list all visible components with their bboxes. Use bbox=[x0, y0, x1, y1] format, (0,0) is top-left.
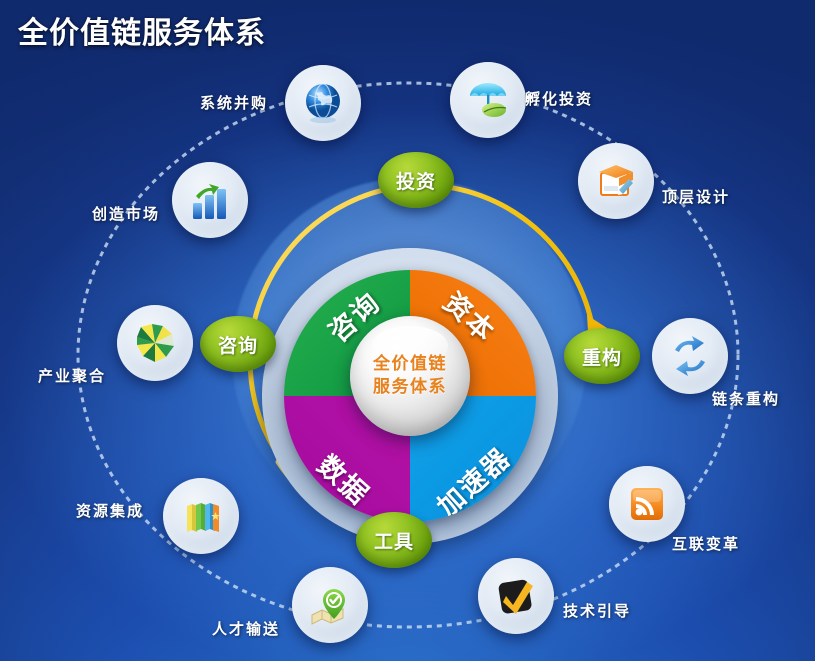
center-title-line2: 服务体系 bbox=[373, 376, 447, 399]
center-title-line1: 全价值链 bbox=[373, 353, 447, 376]
bubble-market-creation[interactable] bbox=[172, 162, 248, 238]
node-label-internet-reform: 互联变革 bbox=[672, 533, 740, 554]
page-title: 全价值链服务体系 bbox=[18, 8, 266, 52]
bubble-chain-restructure[interactable] bbox=[652, 318, 728, 394]
badge-tools[interactable]: 工具 bbox=[356, 512, 432, 568]
notebook-pen-icon bbox=[592, 157, 640, 205]
node-label-industry-cluster: 产业聚合 bbox=[38, 365, 106, 386]
badge-label-restructure: 重构 bbox=[582, 343, 622, 370]
rss-icon bbox=[623, 480, 671, 528]
node-label-market-creation: 创造市场 bbox=[92, 203, 160, 224]
badge-label-investment: 投资 bbox=[396, 167, 436, 194]
badge-restructure[interactable]: 重构 bbox=[564, 328, 640, 384]
globe-icon bbox=[299, 79, 347, 127]
node-label-talent-delivery: 人才输送 bbox=[212, 618, 280, 639]
badge-consulting[interactable]: 咨询 bbox=[200, 316, 276, 372]
badge-label-consulting: 咨询 bbox=[218, 331, 258, 358]
umbrella-leaf-icon bbox=[464, 76, 512, 124]
node-label-tech-guidance: 技术引导 bbox=[563, 600, 631, 621]
node-label-chain-restructure: 链条重构 bbox=[712, 388, 780, 409]
checkmark-icon bbox=[492, 572, 540, 620]
bubble-system-merger[interactable] bbox=[285, 65, 361, 141]
books-icon bbox=[177, 492, 225, 540]
sync-arrows-icon bbox=[666, 332, 714, 380]
bar-chart-icon bbox=[186, 176, 234, 224]
bubble-tech-guidance[interactable] bbox=[478, 558, 554, 634]
bubble-internet-reform[interactable] bbox=[609, 466, 685, 542]
pinwheel-icon bbox=[131, 319, 179, 367]
badge-investment[interactable]: 投资 bbox=[378, 152, 454, 208]
center-sphere: 全价值链 服务体系 bbox=[350, 316, 470, 436]
badge-label-tools: 工具 bbox=[374, 527, 414, 554]
bubble-resource-integration[interactable] bbox=[163, 478, 239, 554]
node-label-resource-integration: 资源集成 bbox=[76, 500, 144, 521]
map-pin-icon bbox=[306, 581, 354, 629]
node-label-incubation-invest: 孵化投资 bbox=[525, 88, 593, 109]
bubble-talent-delivery[interactable] bbox=[292, 567, 368, 643]
bubble-top-level-design[interactable] bbox=[578, 143, 654, 219]
node-label-top-level-design: 顶层设计 bbox=[662, 186, 730, 207]
bubble-incubation-invest[interactable] bbox=[450, 62, 526, 138]
bubble-industry-cluster[interactable] bbox=[117, 305, 193, 381]
node-label-system-merger: 系统并购 bbox=[200, 92, 268, 113]
diagram-canvas: 全价值链服务体系 咨询 资本 数据 加速器 全价值链 bbox=[0, 0, 815, 661]
